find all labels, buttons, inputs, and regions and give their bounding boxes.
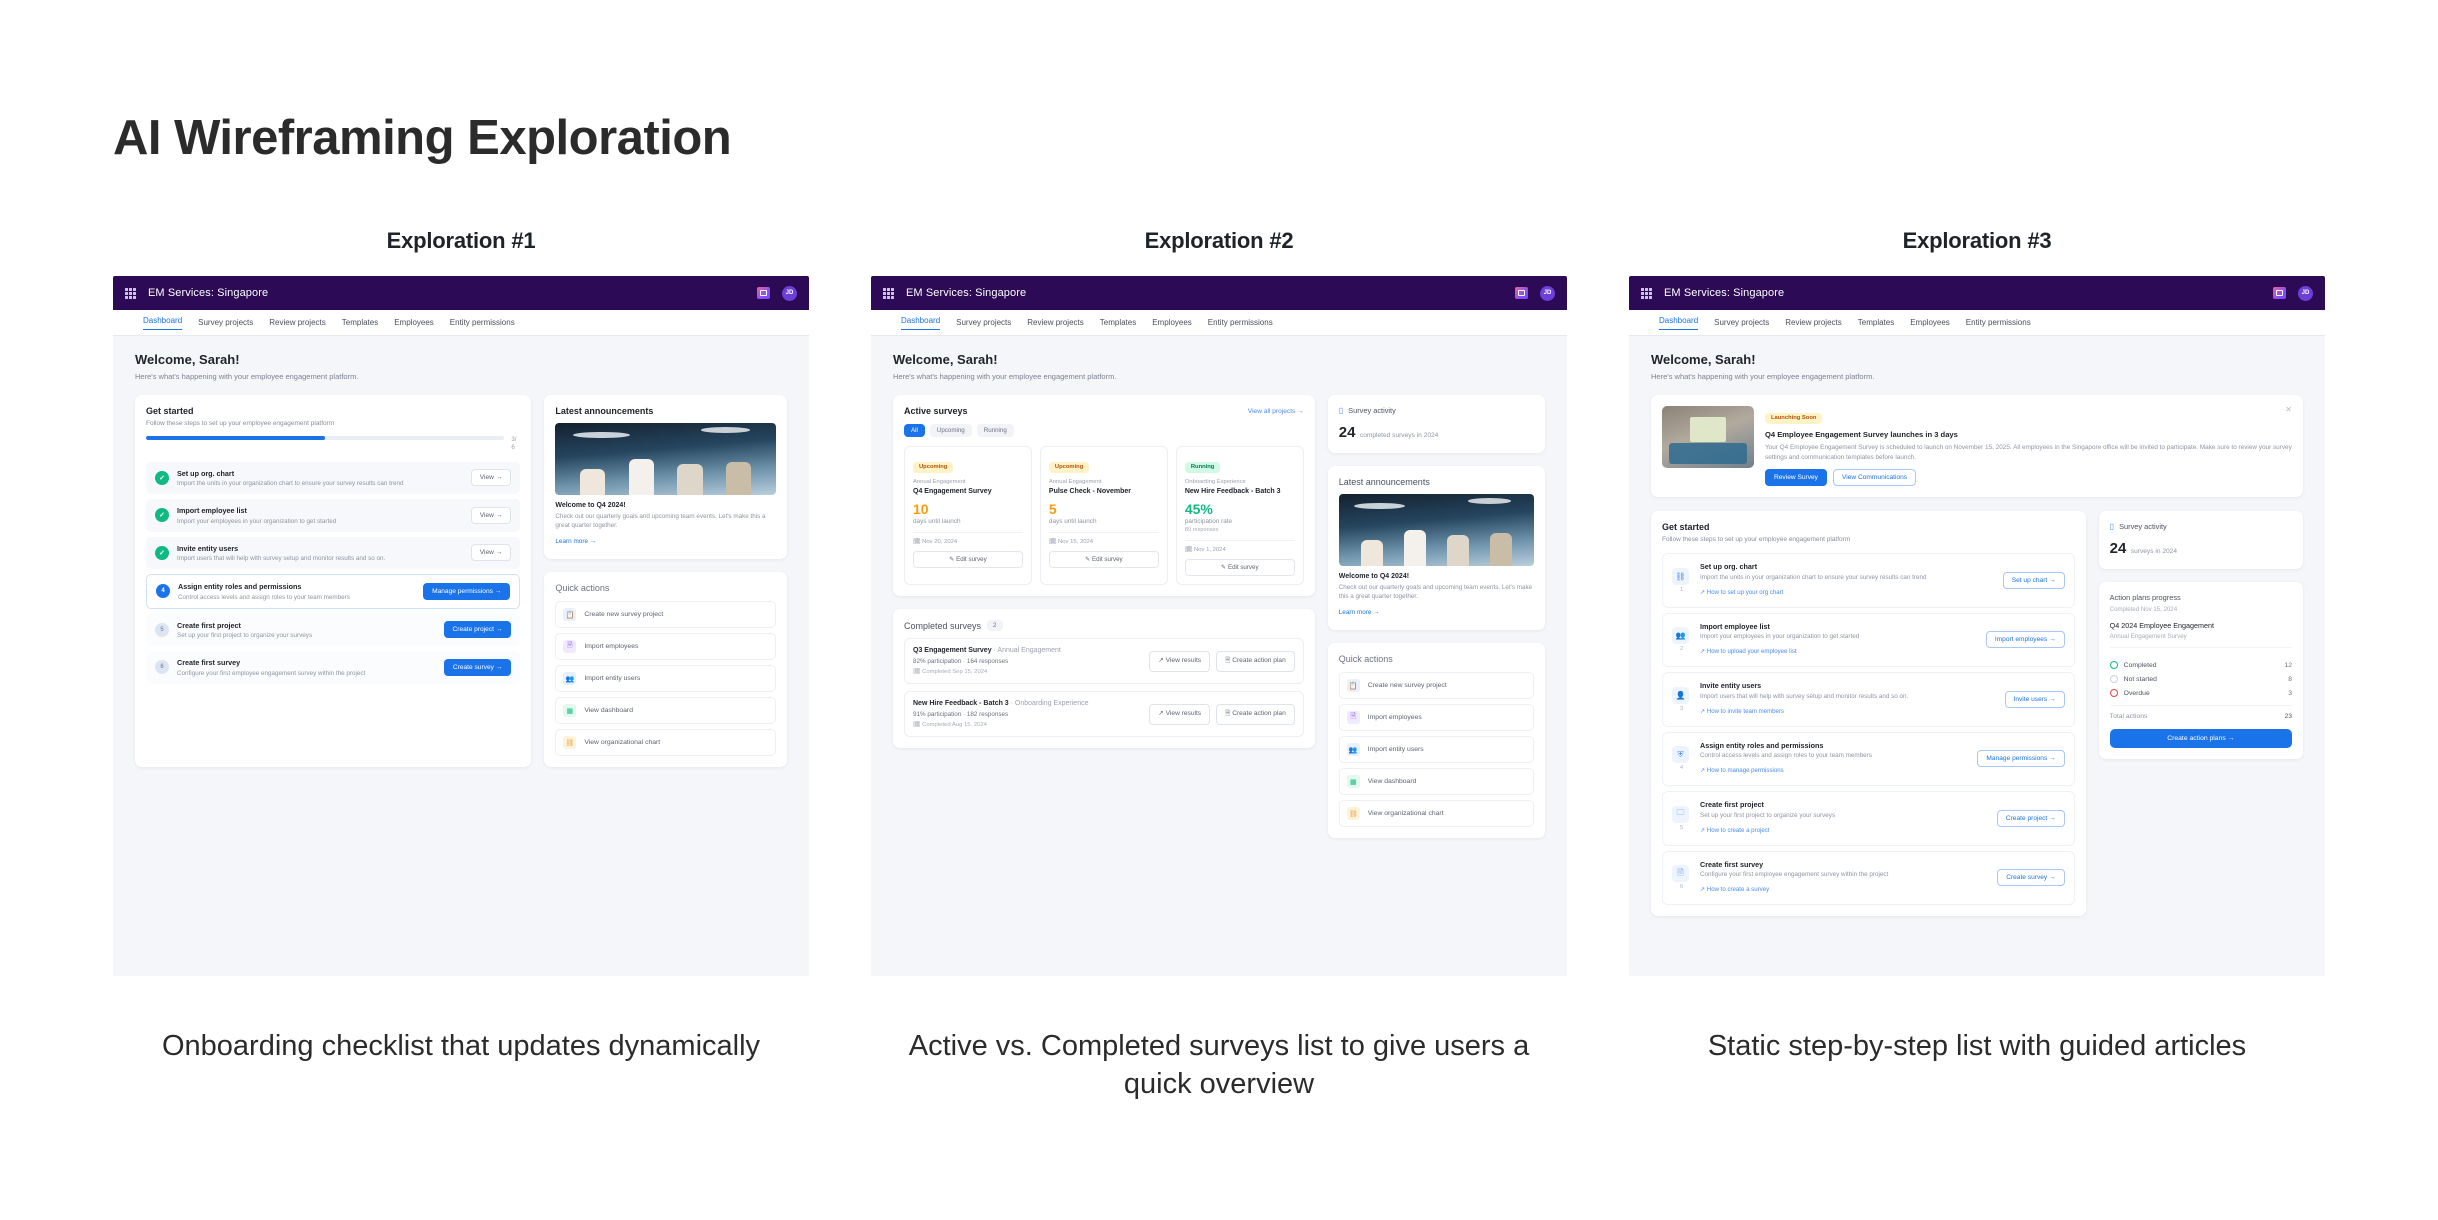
step-description: Configure your first employee engagement… [1700,871,1988,878]
action-plan-stat-row: Completed12 [2110,661,2292,669]
quick-action-label: View organizational chart [1368,810,1444,817]
survey-category: Onboarding Experience [1185,479,1295,485]
tab-templates[interactable]: Templates [342,318,378,327]
survey-date: 🗓 Nov 15, 2024 [1049,532,1159,545]
total-actions-label: Total actions [2110,713,2148,720]
step-help-link[interactable]: ↗ How to create a survey [1700,886,1769,893]
banner-image [1662,406,1754,468]
folder-add-icon: 🗀 [1672,806,1689,823]
onboarding-step: Set up org. chartImport the units in you… [146,462,520,495]
announcement-image [1339,494,1534,566]
survey-status-tag: Upcoming [913,462,953,473]
users-icon: 👥 [1347,743,1360,756]
survey-activity-unit: completed surveys in 2024 [1360,432,1438,439]
notification-icon[interactable] [757,287,770,299]
survey-name: Q4 Engagement Survey [913,488,1023,495]
completed-survey-row: New Hire Feedback - Batch 3 · Onboarding… [904,691,1304,737]
presentation-page: AI Wireframing Exploration Exploration #… [0,0,2438,1220]
tab-dashboard[interactable]: Dashboard [143,316,182,330]
step-action-button[interactable]: Create project → [444,621,512,638]
step-action-button[interactable]: Manage permissions → [423,583,510,600]
exploration-2-screenshot: EM Services: Singapore JD Dashboard Surv… [871,276,1567,976]
exploration-1-heading: Exploration #1 [387,228,536,254]
welcome-subtitle: Here's what's happening with your employ… [135,372,787,381]
step-number: 5 [1672,825,1691,831]
quick-action-label: Create new survey project [1368,682,1447,689]
app-navbar: Dashboard Survey projects Review project… [1629,310,2325,336]
completed-survey-name: Q3 Engagement Survey · Annual Engagement [913,647,1149,654]
notification-icon[interactable] [1515,287,1528,299]
completed-surveys-title: Completed surveys [904,621,981,631]
quick-action-item[interactable]: 🗎Import employees [1339,704,1534,731]
edit-survey-button[interactable]: ✎ Edit survey [1049,551,1159,568]
banner-title: Q4 Employee Engagement Survey launches i… [1765,430,2292,439]
exploration-2-column: Exploration #2 EM Services: Singapore JD… [871,228,1567,1103]
survey-category: Annual Engagement [1049,479,1159,485]
survey-name: New Hire Feedback - Batch 3 [1185,488,1295,495]
quick-action-item[interactable]: ▦View dashboard [555,697,776,724]
announcement-image [555,423,776,495]
status-dot [2110,689,2118,697]
get-started-card: Get started Follow these steps to set up… [1651,511,2086,916]
survey-metric-unit: participation rate [1185,518,1295,525]
step-number: 4 [1672,765,1691,771]
tab-survey-projects[interactable]: Survey projects [956,318,1011,327]
avatar[interactable]: JD [1540,286,1555,301]
exploration-1-column: Exploration #1 EM Services: Singapore JD… [113,228,809,1103]
onboarding-step: 👥2Import employee listImport your employ… [1662,613,2075,668]
survey-metric-unit: days until launch [913,518,1023,525]
step-text: Assign entity roles and permissionsContr… [178,582,415,601]
exploration-3-heading: Exploration #3 [1903,228,2052,254]
action-plan-stat-value: 8 [2288,676,2292,683]
step-title: Set up org. chart [177,469,463,478]
quick-actions-card: Quick actions 📋Create new survey project… [1328,643,1545,838]
step-description: Import users that will help with survey … [1700,693,1996,700]
quick-action-item[interactable]: 🗎Import employees [555,633,776,660]
step-text: Invite entity usersImport users that wil… [177,544,463,563]
step-number: 6 [1672,884,1691,890]
dashboard-icon: ▦ [1347,775,1360,788]
step-description: Control access levels and assign roles t… [1700,752,1968,759]
avatar[interactable]: JD [782,286,797,301]
survey-metric: 5 [1049,501,1159,517]
shield-icon: ⛨ [1672,746,1689,763]
edit-survey-button[interactable]: ✎ Edit survey [1185,559,1295,576]
step-title: Set up org. chart [1700,562,1994,571]
announcement-title: Welcome to Q4 2024! [555,502,776,509]
status-dot [2110,675,2118,683]
step-description: Import your employees in your organizati… [177,518,463,525]
completed-survey-metrics: 82% participation · 164 responses [913,658,1149,665]
tab-review-projects[interactable]: Review projects [269,318,325,327]
step-title: Invite entity users [1700,681,1996,690]
quick-action-label: View dashboard [584,707,633,714]
create-action-plan-button[interactable]: 🗎 Create action plan [1216,651,1295,672]
action-plans-stats: Completed12Not started8Overdue3 [2110,647,2292,697]
active-survey-cards: UpcomingAnnual EngagementQ4 Engagement S… [904,446,1304,585]
exploration-1-caption: Onboarding checklist that updates dynami… [141,1028,781,1066]
tab-entity-permissions[interactable]: Entity permissions [1966,318,2031,327]
step-title: Assign entity roles and permissions [178,582,415,591]
quick-actions-title: Quick actions [555,583,776,593]
step-description: Import your employees in your organizati… [1700,633,1977,640]
survey-activity-number: 24 [1339,424,1356,441]
announcements-title: Latest announcements [555,406,776,416]
onboarding-steps-list: ⛓1Set up org. chartImport the units in y… [1662,553,2075,905]
right-rail: Latest announcements Welcome to Q4 2024!… [544,395,787,767]
tab-entity-permissions[interactable]: Entity permissions [450,318,515,327]
quick-action-label: Import entity users [1368,746,1424,753]
exploration-3-screenshot: EM Services: Singapore JD Dashboard Surv… [1629,276,2325,976]
completed-survey-name: New Hire Feedback - Batch 3 · Onboarding… [913,700,1149,707]
step-help-link[interactable]: ↗ How to manage permissions [1700,767,1784,774]
step-help-link[interactable]: ↗ How to invite team members [1700,708,1784,715]
tab-dashboard[interactable]: Dashboard [1659,316,1698,330]
action-plan-stat-value: 3 [2288,690,2292,697]
action-plans-title: Action plans progress [2110,593,2292,602]
step-action-button[interactable]: Invite users → [2005,691,2065,708]
announcement-learn-more-link[interactable]: Learn more → [555,538,596,545]
welcome-heading: Welcome, Sarah! [893,352,1545,367]
quick-actions-list: 📋Create new survey project🗎Import employ… [1339,672,1534,827]
app-body: Welcome, Sarah! Here's what's happening … [871,336,1567,976]
right-rail: ▯ Survey activity 24 surveys in 2024 Act… [2099,511,2303,916]
app-topbar: EM Services: Singapore JD [113,276,809,310]
grid-icon[interactable] [1641,288,1652,299]
exploration-3-column: Exploration #3 EM Services: Singapore JD… [1629,228,2325,1103]
step-title: Invite entity users [177,544,463,553]
step-description: Control access levels and assign roles t… [178,594,415,601]
action-plan-stat-value: 12 [2284,662,2292,669]
app-title: EM Services: Singapore [906,287,1026,299]
step-number: 3 [1672,706,1691,712]
step-title: Create first project [177,621,436,630]
banner-tag: Launching Soon [1765,413,1822,424]
step-description: Set up your first project to organize yo… [1700,812,1988,819]
announcements-title: Latest announcements [1339,477,1534,487]
org-chart-icon: ⛓ [1347,807,1360,820]
bar-chart-icon: ▯ [2110,522,2114,531]
quick-action-label: Import entity users [584,675,640,682]
view-results-button[interactable]: ↗ View results [1149,651,1210,672]
onboarding-step: 🗀5Create first projectSet up your first … [1662,791,2075,846]
dashboard-icon: ▦ [563,704,576,717]
completed-surveys-count: 2 [987,620,1002,631]
action-plan-stat-label: Overdue [2124,690,2150,697]
grid-icon[interactable] [125,288,136,299]
view-communications-button[interactable]: View Communications [1833,469,1916,486]
survey-activity-unit: surveys in 2024 [2131,548,2177,555]
get-started-subtitle: Follow these steps to set up your employ… [1662,536,2075,543]
step-text: Import employee listImport your employee… [177,506,463,525]
launch-banner: Launching Soon Q4 Employee Engagement Su… [1651,395,2303,497]
step-bullet [155,471,169,485]
quick-action-label: View organizational chart [584,739,660,746]
tab-review-projects[interactable]: Review projects [1027,318,1083,327]
step-description: Configure your first employee engagement… [177,670,436,677]
progress-label: 3/ 6 [511,436,520,452]
survey-filter-pills: AllUpcomingRunning [904,424,1304,437]
survey-activity-card: ▯ Survey activity 24 completed surveys i… [1328,395,1545,453]
app-body: Welcome, Sarah! Here's what's happening … [113,336,809,976]
survey-metric: 10 [913,501,1023,517]
users-icon: 👥 [563,672,576,685]
get-started-subtitle: Follow these steps to set up your employ… [146,420,520,427]
active-survey-card: RunningOnboarding ExperienceNew Hire Fee… [1176,446,1304,585]
org-chart-icon: ⛓ [563,736,576,749]
document-icon: 🗎 [1672,865,1689,882]
announcement-body: Check out our quarterly goals and upcomi… [555,512,776,530]
survey-activity-title: Survey activity [1348,406,1396,415]
tab-templates[interactable]: Templates [1100,318,1136,327]
onboarding-step: 4Assign entity roles and permissionsCont… [146,574,520,609]
file-upload-icon: 🗎 [1347,711,1360,724]
user-add-icon: 👤 [1672,687,1689,704]
step-action-button[interactable]: Create survey → [444,659,511,676]
bar-chart-icon: ▯ [1339,406,1343,415]
quick-action-item[interactable]: 👥Import entity users [555,665,776,692]
action-plans-date: Completed Nov 15, 2024 [2110,606,2292,613]
org-chart-icon: ⛓ [1672,568,1689,585]
right-rail: ▯ Survey activity 24 completed surveys i… [1328,395,1545,838]
app-topbar: EM Services: Singapore JD [871,276,1567,310]
get-started-title: Get started [146,406,520,416]
tab-employees[interactable]: Employees [1152,318,1192,327]
step-description: Import users that will help with survey … [177,555,463,562]
review-survey-button[interactable]: Review Survey [1765,469,1827,486]
completed-survey-metrics: 91% participation · 182 responses [913,711,1149,718]
announcement-title: Welcome to Q4 2024! [1339,573,1534,580]
filter-pill-upcoming[interactable]: Upcoming [930,424,972,437]
explorations-row: Exploration #1 EM Services: Singapore JD… [113,228,2325,1103]
users-icon: 👥 [1672,627,1689,644]
step-action-button[interactable]: View → [471,507,512,524]
welcome-heading: Welcome, Sarah! [135,352,787,367]
step-bullet [155,546,169,560]
exploration-1-screenshot: EM Services: Singapore JD Dashboard Surv… [113,276,809,976]
view-results-button[interactable]: ↗ View results [1149,704,1210,725]
quick-actions-list: 📋Create new survey project🗎Import employ… [555,601,776,756]
progress-row: 3/ 6 [146,436,520,452]
quick-actions-card: Quick actions 📋Create new survey project… [544,572,787,767]
step-text: Set up org. chartImport the units in you… [177,469,463,488]
survey-date: 🗓 Nov 1, 2024 [1185,540,1295,553]
survey-activity-title: Survey activity [2119,522,2167,531]
app-topbar: EM Services: Singapore JD [1629,276,2325,310]
action-plan-stat-row: Not started8 [2110,675,2292,683]
active-surveys-card: Active surveys View all projects → AllUp… [893,395,1315,596]
exploration-3-caption: Static step-by-step list with guided art… [1657,1028,2297,1066]
tab-survey-projects[interactable]: Survey projects [198,318,253,327]
edit-survey-button[interactable]: ✎ Edit survey [913,551,1023,568]
onboarding-step: Invite entity usersImport users that wil… [146,537,520,570]
announcement-body: Check out our quarterly goals and upcomi… [1339,583,1534,601]
completed-survey-row: Q3 Engagement Survey · Annual Engagement… [904,638,1304,684]
tab-dashboard[interactable]: Dashboard [901,316,940,330]
quick-action-label: View dashboard [1368,778,1417,785]
announcements-card: Latest announcements Welcome to Q4 2024!… [544,395,787,559]
step-bullet: 4 [156,584,170,598]
step-bullet [155,508,169,522]
quick-action-item[interactable]: ⛓View organizational chart [1339,800,1534,827]
onboarding-steps-list: Set up org. chartImport the units in you… [146,462,520,684]
completed-surveys-list: Q3 Engagement Survey · Annual Engagement… [904,638,1304,737]
active-surveys-title: Active surveys [904,406,968,416]
onboarding-step: 🗎6Create first surveyConfigure your firs… [1662,851,2075,906]
quick-action-item[interactable]: 📋Create new survey project [1339,672,1534,699]
step-title: Import employee list [1700,622,1977,631]
tab-employees[interactable]: Employees [1910,318,1950,327]
action-plans-project-sub: Annual Engagement Survey [2110,633,2292,640]
view-all-projects-link[interactable]: View all projects → [1248,408,1304,415]
step-help-link[interactable]: ↗ How to create a project [1700,827,1769,834]
exploration-2-caption: Active vs. Completed surveys list to giv… [899,1028,1539,1103]
survey-name: Pulse Check - November [1049,488,1159,495]
tab-survey-projects[interactable]: Survey projects [1714,318,1769,327]
create-action-plans-button[interactable]: Create action plans → [2110,729,2292,748]
quick-actions-title: Quick actions [1339,654,1534,664]
step-action-button[interactable]: Import employees → [1986,631,2065,648]
notification-icon[interactable] [2273,287,2286,299]
completed-survey-date: 🗓 Completed Sep 15, 2024 [913,669,1149,675]
tab-entity-permissions[interactable]: Entity permissions [1208,318,1273,327]
app-title: EM Services: Singapore [1664,287,1784,299]
step-action-button[interactable]: View → [471,544,512,561]
step-action-button[interactable]: View → [471,469,512,486]
quick-action-label: Import employees [1368,714,1422,721]
app-title: EM Services: Singapore [148,287,268,299]
step-bullet: 5 [155,623,169,637]
step-description: Import the units in your organization ch… [177,480,463,487]
survey-status-tag: Running [1185,462,1221,473]
quick-action-label: Create new survey project [584,611,663,618]
status-dot [2110,661,2118,669]
get-started-title: Get started [1662,522,2075,532]
step-help-link[interactable]: ↗ How to set up your org chart [1700,589,1783,596]
welcome-heading: Welcome, Sarah! [1651,352,2303,367]
quick-action-item[interactable]: 👥Import entity users [1339,736,1534,763]
onboarding-step: 6Create first surveyConfigure your first… [146,651,520,684]
quick-action-label: Import employees [584,643,638,650]
onboarding-step: 5Create first projectSet up your first p… [146,614,520,647]
survey-date: 🗓 Nov 20, 2024 [913,532,1023,545]
step-title: Create first survey [1700,860,1988,869]
tab-templates[interactable]: Templates [1858,318,1894,327]
tab-review-projects[interactable]: Review projects [1785,318,1841,327]
app-navbar: Dashboard Survey projects Review project… [871,310,1567,336]
clipboard-icon: 📋 [1347,679,1360,692]
action-plan-stat-label: Completed [2124,662,2157,669]
onboarding-step: ⛨4Assign entity roles and permissionsCon… [1662,732,2075,787]
step-title: Import employee list [177,506,463,515]
completed-surveys-card: Completed surveys 2 Q3 Engagement Survey… [893,609,1315,748]
action-plans-card: Action plans progress Completed Nov 15, … [2099,582,2303,759]
step-title: Create first project [1700,800,1988,809]
step-description: Set up your first project to organize yo… [177,632,436,639]
welcome-subtitle: Here's what's happening with your employ… [1651,372,2303,381]
survey-activity-card: ▯ Survey activity 24 surveys in 2024 [2099,511,2303,569]
action-plan-stat-label: Not started [2124,676,2157,683]
filter-pill-running[interactable]: Running [977,424,1014,437]
exploration-2-heading: Exploration #2 [1145,228,1294,254]
step-number: 2 [1672,646,1691,652]
banner-body: Your Q4 Employee Engagement Survey is sc… [1765,443,2292,462]
onboarding-step: Import employee listImport your employee… [146,499,520,532]
onboarding-step: 👤3Invite entity usersImport users that w… [1662,672,2075,727]
quick-action-item[interactable]: ▦View dashboard [1339,768,1534,795]
progress-bar [146,436,504,440]
survey-responses: 89 responses [1185,527,1295,533]
announcements-card: Latest announcements Welcome to Q4 2024!… [1328,466,1545,630]
avatar[interactable]: JD [2298,286,2313,301]
active-survey-card: UpcomingAnnual EngagementQ4 Engagement S… [904,446,1032,585]
page-title: AI Wireframing Exploration [113,110,731,166]
step-text: Create first surveyConfigure your first … [177,658,436,677]
tab-employees[interactable]: Employees [394,318,434,327]
step-action-button[interactable]: Set up chart → [2003,572,2065,589]
survey-activity-number: 24 [2110,540,2127,557]
survey-metric: 45% [1185,501,1295,517]
active-survey-card: UpcomingAnnual EngagementPulse Check - N… [1040,446,1168,585]
step-action-button[interactable]: Create project → [1997,810,2065,827]
grid-icon[interactable] [883,288,894,299]
app-body: Welcome, Sarah! Here's what's happening … [1629,336,2325,976]
announcement-learn-more-link[interactable]: Learn more → [1339,609,1380,616]
welcome-subtitle: Here's what's happening with your employ… [893,372,1545,381]
file-upload-icon: 🗎 [563,640,576,653]
step-action-button[interactable]: Create survey → [1997,869,2064,886]
clipboard-icon: 📋 [563,608,576,621]
step-title: Create first survey [177,658,436,667]
quick-action-item[interactable]: ⛓View organizational chart [555,729,776,756]
step-action-button[interactable]: Manage permissions → [1977,750,2064,767]
step-bullet: 6 [155,660,169,674]
action-plans-project: Q4 2024 Employee Engagement [2110,621,2292,630]
completed-survey-date: 🗓 Completed Aug 15, 2024 [913,722,1149,728]
get-started-card: Get started Follow these steps to set up… [135,395,531,767]
filter-pill-all[interactable]: All [904,424,925,437]
step-help-link[interactable]: ↗ How to upload your employee list [1700,648,1797,655]
close-icon[interactable]: ✕ [2285,405,2292,414]
app-navbar: Dashboard Survey projects Review project… [113,310,809,336]
create-action-plan-button[interactable]: 🗎 Create action plan [1216,704,1295,725]
onboarding-step: ⛓1Set up org. chartImport the units in y… [1662,553,2075,608]
action-plans-total: Total actions 23 [2110,705,2292,720]
step-text: Create first projectSet up your first pr… [177,621,436,640]
step-description: Import the units in your organization ch… [1700,574,1994,581]
step-number: 1 [1672,587,1691,593]
quick-action-item[interactable]: 📋Create new survey project [555,601,776,628]
survey-metric-unit: days until launch [1049,518,1159,525]
survey-category: Annual Engagement [913,479,1023,485]
step-title: Assign entity roles and permissions [1700,741,1968,750]
action-plan-stat-row: Overdue3 [2110,689,2292,697]
total-actions-value: 23 [2284,713,2292,720]
survey-status-tag: Upcoming [1049,462,1089,473]
